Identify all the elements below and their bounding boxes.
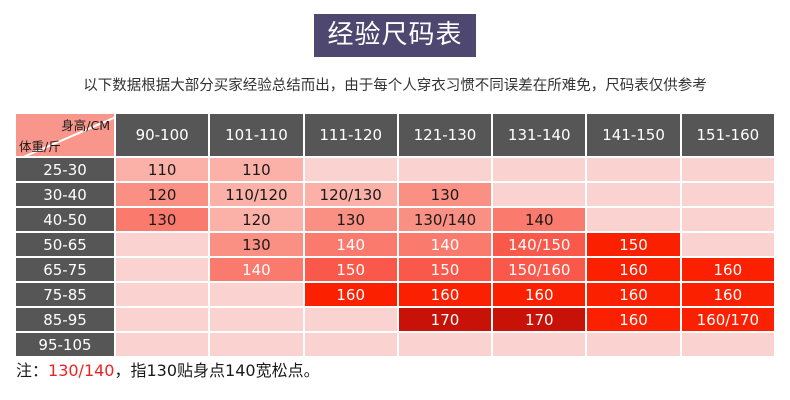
size-chart-table-wrapper: 身高/CM 体重/斤 90-100 101-110 111-120 121-13… (14, 112, 776, 358)
table-row: 85-95170170160160/170 (16, 308, 774, 331)
column-header-0: 90-100 (116, 114, 208, 156)
table-row: 95-105 (16, 333, 774, 356)
cell-r6-c5: 160 (587, 308, 679, 331)
row-header-3: 50-65 (16, 233, 114, 256)
cell-r6-c4: 170 (493, 308, 585, 331)
corner-weight-label: 体重/斤 (19, 136, 61, 155)
cell-r6-c1 (210, 308, 302, 331)
footnote-suffix: ，指130贴身点140宽松点。 (114, 361, 319, 380)
title-bar: 经验尺码表 (0, 0, 790, 57)
corner-height-label: 身高/CM (61, 115, 110, 134)
cell-r1-c2: 120/130 (305, 183, 397, 206)
cell-r1-c1: 110/120 (210, 183, 302, 206)
cell-r1-c0: 120 (116, 183, 208, 206)
size-chart-table: 身高/CM 体重/斤 90-100 101-110 111-120 121-13… (14, 112, 776, 358)
column-header-5: 141-150 (587, 114, 679, 156)
cell-r4-c1: 140 (210, 258, 302, 281)
table-row: 25-30110110 (16, 158, 774, 181)
cell-r5-c2: 160 (305, 283, 397, 306)
corner-axis-cell: 身高/CM 体重/斤 (16, 114, 114, 156)
cell-r4-c3: 150 (399, 258, 491, 281)
cell-r2-c4: 140 (493, 208, 585, 231)
column-header-2: 111-120 (305, 114, 397, 156)
cell-r3-c5: 150 (587, 233, 679, 256)
cell-r5-c1 (210, 283, 302, 306)
cell-r2-c1: 120 (210, 208, 302, 231)
cell-r7-c1 (210, 333, 302, 356)
cell-r6-c2 (305, 308, 397, 331)
table-row: 40-50130120130130/140140 (16, 208, 774, 231)
cell-r6-c0 (116, 308, 208, 331)
column-header-3: 121-130 (399, 114, 491, 156)
cell-r3-c0 (116, 233, 208, 256)
cell-r1-c5 (587, 183, 679, 206)
cell-r7-c6 (682, 333, 774, 356)
row-header-5: 75-85 (16, 283, 114, 306)
cell-r7-c5 (587, 333, 679, 356)
cell-r6-c3: 170 (399, 308, 491, 331)
footnote: 注：130/140，指130贴身点140宽松点。 (16, 357, 320, 381)
cell-r5-c5: 160 (587, 283, 679, 306)
cell-r4-c5: 160 (587, 258, 679, 281)
cell-r0-c3 (399, 158, 491, 181)
cell-r7-c4 (493, 333, 585, 356)
row-header-0: 25-30 (16, 158, 114, 181)
cell-r3-c6 (682, 233, 774, 256)
footnote-highlight: 130/140 (48, 361, 114, 380)
cell-r1-c4 (493, 183, 585, 206)
cell-r5-c3: 160 (399, 283, 491, 306)
header-row: 身高/CM 体重/斤 90-100 101-110 111-120 121-13… (16, 114, 774, 156)
cell-r7-c0 (116, 333, 208, 356)
row-header-1: 30-40 (16, 183, 114, 206)
cell-r0-c1: 110 (210, 158, 302, 181)
table-row: 65-75140150150150/160160160 (16, 258, 774, 281)
cell-r3-c4: 140/150 (493, 233, 585, 256)
cell-r6-c6: 160/170 (682, 308, 774, 331)
cell-r1-c3: 130 (399, 183, 491, 206)
cell-r3-c1: 130 (210, 233, 302, 256)
cell-r4-c4: 150/160 (493, 258, 585, 281)
table-row: 75-85160160160160160 (16, 283, 774, 306)
row-header-7: 95-105 (16, 333, 114, 356)
footnote-prefix: 注： (16, 361, 48, 380)
page-title: 经验尺码表 (314, 14, 475, 57)
cell-r0-c6 (682, 158, 774, 181)
table-body: 25-3011011030-40120110/120120/13013040-5… (16, 158, 774, 356)
cell-r7-c2 (305, 333, 397, 356)
cell-r0-c2 (305, 158, 397, 181)
cell-r5-c4: 160 (493, 283, 585, 306)
row-header-2: 40-50 (16, 208, 114, 231)
cell-r2-c6 (682, 208, 774, 231)
cell-r0-c0: 110 (116, 158, 208, 181)
cell-r2-c2: 130 (305, 208, 397, 231)
cell-r3-c2: 140 (305, 233, 397, 256)
subtitle-text: 以下数据根据大部分买家经验总结而出，由于每个人穿衣习惯不同误差在所难免，尺码表仅… (0, 74, 790, 95)
column-header-1: 101-110 (210, 114, 302, 156)
cell-r0-c4 (493, 158, 585, 181)
cell-r5-c6: 160 (682, 283, 774, 306)
cell-r4-c0 (116, 258, 208, 281)
cell-r4-c2: 150 (305, 258, 397, 281)
cell-r7-c3 (399, 333, 491, 356)
column-header-6: 151-160 (682, 114, 774, 156)
cell-r5-c0 (116, 283, 208, 306)
cell-r0-c5 (587, 158, 679, 181)
row-header-4: 65-75 (16, 258, 114, 281)
cell-r3-c3: 140 (399, 233, 491, 256)
table-row: 50-65130140140140/150150 (16, 233, 774, 256)
cell-r2-c3: 130/140 (399, 208, 491, 231)
cell-r2-c5 (587, 208, 679, 231)
cell-r1-c6 (682, 183, 774, 206)
cell-r4-c6: 160 (682, 258, 774, 281)
row-header-6: 85-95 (16, 308, 114, 331)
cell-r2-c0: 130 (116, 208, 208, 231)
column-header-4: 131-140 (493, 114, 585, 156)
table-header: 身高/CM 体重/斤 90-100 101-110 111-120 121-13… (16, 114, 774, 156)
table-row: 30-40120110/120120/130130 (16, 183, 774, 206)
